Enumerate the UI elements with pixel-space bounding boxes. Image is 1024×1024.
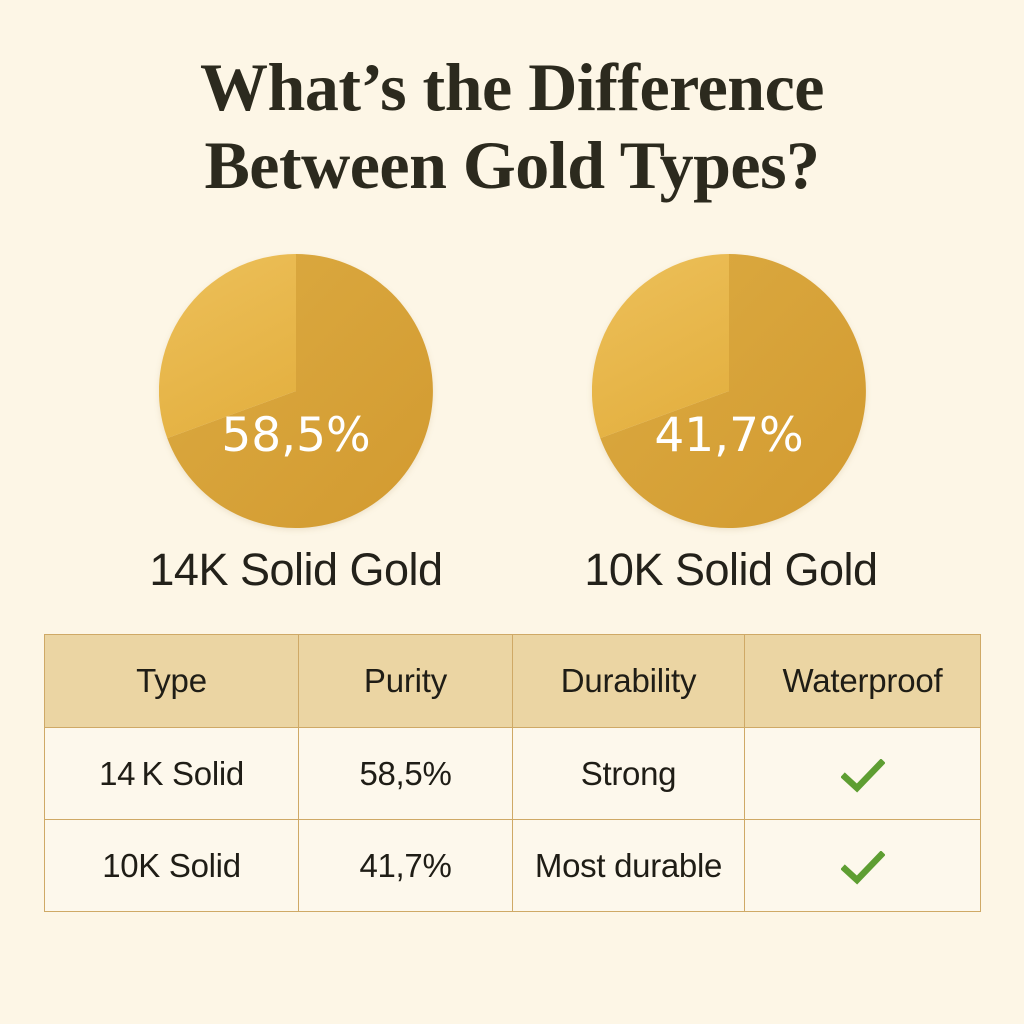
cell-durability: Strong <box>513 728 745 820</box>
check-icon <box>841 851 885 885</box>
page-title: What’s the Difference Between Gold Types… <box>0 48 1024 204</box>
pie-chart-icon <box>592 254 866 528</box>
gold-comparison-infographic: What’s the Difference Between Gold Types… <box>0 0 1024 1024</box>
pie-percent-label-14k: 58,5% <box>159 408 433 463</box>
column-header-waterproof: Waterproof <box>745 635 981 728</box>
pie-percent-label-10k: 41,7% <box>592 408 866 463</box>
table-row: 10K Solid 41,7% Most durable <box>45 820 981 912</box>
pie-chart-icon <box>159 254 433 528</box>
table-header-row: Type Purity Durability Waterproof <box>45 635 981 728</box>
pie-chart-10k: 41,7% <box>592 254 866 528</box>
pie-caption-14k: 14K Solid Gold <box>60 544 532 596</box>
check-icon <box>841 759 885 793</box>
cell-type: 14 K Solid <box>45 728 299 820</box>
column-header-type: Type <box>45 635 299 728</box>
cell-type: 10K Solid <box>45 820 299 912</box>
title-line-1: What’s the Difference <box>0 48 1024 126</box>
column-header-purity: Purity <box>299 635 513 728</box>
cell-waterproof <box>745 728 981 820</box>
cell-purity: 41,7% <box>299 820 513 912</box>
table-row: 14 K Solid 58,5% Strong <box>45 728 981 820</box>
cell-durability: Most durable <box>513 820 745 912</box>
pie-chart-14k: 58,5% <box>159 254 433 528</box>
comparison-table: Type Purity Durability Waterproof 14 K S… <box>44 634 981 912</box>
column-header-durability: Durability <box>513 635 745 728</box>
cell-waterproof <box>745 820 981 912</box>
pie-caption-10k: 10K Solid Gold <box>495 544 967 596</box>
cell-purity: 58,5% <box>299 728 513 820</box>
title-line-2: Between Gold Types? <box>0 126 1024 204</box>
